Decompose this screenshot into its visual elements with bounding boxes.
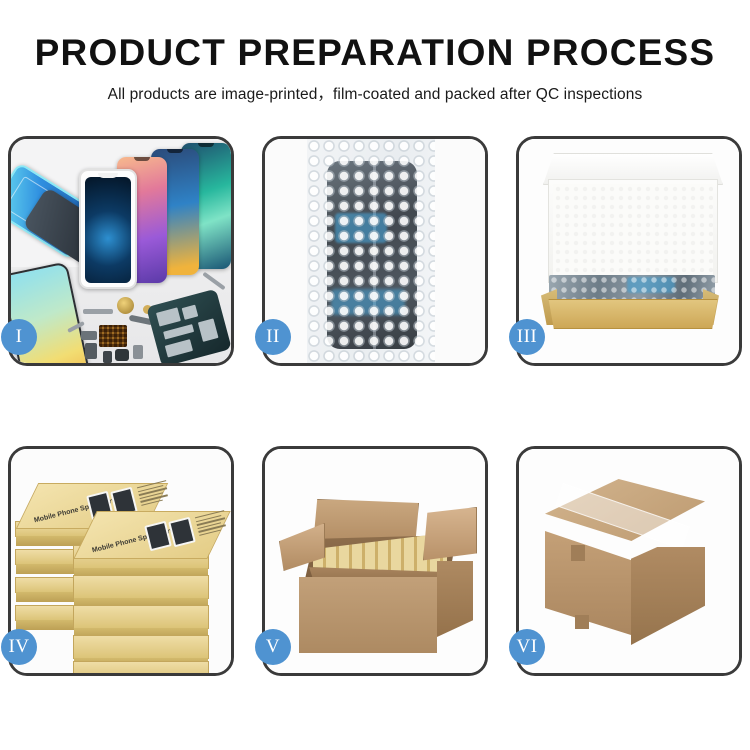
step-badge-3: III <box>509 319 545 355</box>
photo-open-mailer-box <box>519 139 739 363</box>
process-step-panel-2[interactable]: II <box>262 136 488 366</box>
step-badge-6: VI <box>509 629 545 665</box>
carton-front-panel <box>299 577 437 653</box>
step-badge-5: V <box>255 629 291 665</box>
screen-protector-glass <box>79 169 137 289</box>
wrapped-products-in-box <box>549 275 715 303</box>
page-subtitle: All products are image-printed，film-coat… <box>0 73 750 104</box>
photo-bubble-wrap-packing <box>265 139 485 363</box>
retail-box-front-3 <box>73 605 209 629</box>
part-connector-b <box>85 343 97 359</box>
photo-open-shipping-carton <box>265 449 485 673</box>
bubble-wrap-sheet <box>307 139 435 363</box>
part-camera-module <box>115 349 129 361</box>
carton-handle-tab-top <box>571 545 585 561</box>
process-step-panel-3[interactable]: III <box>516 136 742 366</box>
mailer-front-panel <box>545 299 721 329</box>
photo-stacked-retail-boxes: Mobile Phone Spare Parts Mobile Phone Sp… <box>11 449 231 673</box>
part-connector-a <box>81 331 97 340</box>
process-step-panel-5[interactable]: V <box>262 446 488 676</box>
process-step-panel-4[interactable]: Mobile Phone Spare Parts Mobile Phone Sp… <box>8 446 234 676</box>
retail-box-front-1 <box>73 661 209 673</box>
step-badge-4: IV <box>1 629 37 665</box>
foam-liner <box>553 184 713 278</box>
retail-box-front-2 <box>73 635 209 659</box>
part-speaker-coil <box>117 297 134 314</box>
retail-box-front-4 <box>73 575 209 599</box>
part-flex-strip <box>83 309 113 314</box>
mailer-back-panel <box>548 179 718 283</box>
part-chip-array <box>99 325 127 347</box>
step-badge-2: II <box>255 319 291 355</box>
page-title: PRODUCT PREPARATION PROCESS <box>0 0 750 73</box>
page-header: PRODUCT PREPARATION PROCESS All products… <box>0 0 750 104</box>
process-step-panel-1[interactable]: I <box>8 136 234 366</box>
photo-sealed-shipping-carton <box>519 449 739 673</box>
process-step-grid: I II <box>8 136 742 676</box>
part-button <box>103 351 112 363</box>
step-badge-1: I <box>1 319 37 355</box>
part-vibrator <box>133 345 143 359</box>
photo-phone-screens-and-spare-parts <box>11 139 231 363</box>
bubble-texture <box>307 139 435 363</box>
carton-handle-tab-bottom <box>575 615 589 629</box>
process-step-panel-6[interactable]: VI <box>516 446 742 676</box>
